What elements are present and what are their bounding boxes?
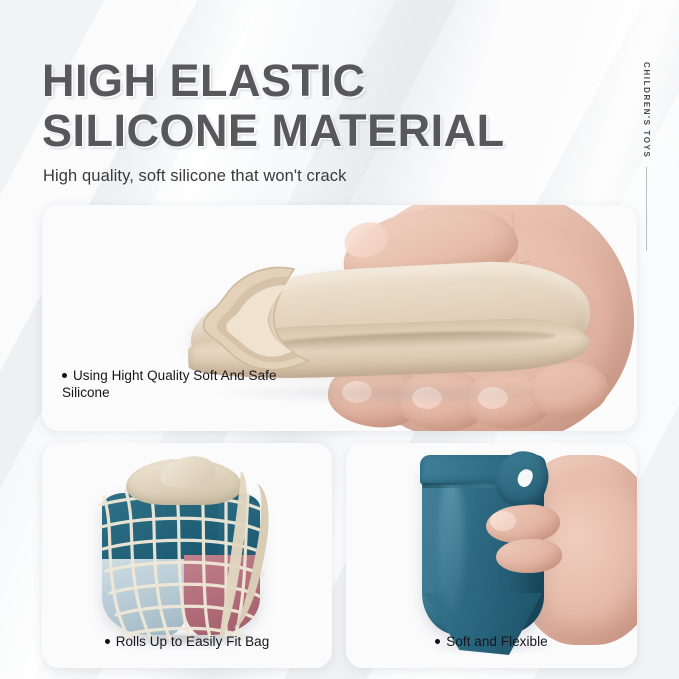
- bullet-dot-icon: [62, 373, 67, 378]
- pouch-highlight: [438, 473, 464, 613]
- caption-bottom-right-text: Soft and Flexible: [446, 634, 547, 649]
- mesh-bag: [80, 457, 295, 647]
- vertical-category-label: CHILDREN'S TOYS: [642, 62, 651, 158]
- feature-card-material: Using Hight Quality Soft And Safe Silico…: [42, 205, 637, 431]
- bullet-dot-icon: [435, 639, 440, 644]
- caption-bottom-right: Soft and Flexible: [346, 633, 637, 650]
- vertical-divider-line: [646, 167, 647, 251]
- caption-bottom-left: Rolls Up to Easily Fit Bag: [42, 633, 332, 650]
- caption-bottom-left-text: Rolls Up to Easily Fit Bag: [116, 634, 270, 649]
- vertical-category-tag: CHILDREN'S TOYS: [642, 62, 651, 251]
- page-subtitle: High quality, soft silicone that won't c…: [43, 167, 346, 186]
- product-feature-poster: HIGH ELASTIC SILICONE MATERIAL High qual…: [0, 0, 679, 679]
- page-title: HIGH ELASTIC SILICONE MATERIAL: [42, 56, 602, 156]
- feature-card-rolls-up: Rolls Up to Easily Fit Bag: [42, 443, 332, 668]
- bullet-dot-icon: [105, 639, 110, 644]
- pouch-scalloped-opening: [190, 261, 316, 379]
- caption-top: Using Hight Quality Soft And Safe Silico…: [62, 367, 312, 401]
- finger-nail: [490, 511, 516, 531]
- feature-card-soft-flexible: Soft and Flexible: [346, 443, 637, 668]
- caption-top-text: Using Hight Quality Soft And Safe Silico…: [62, 368, 277, 400]
